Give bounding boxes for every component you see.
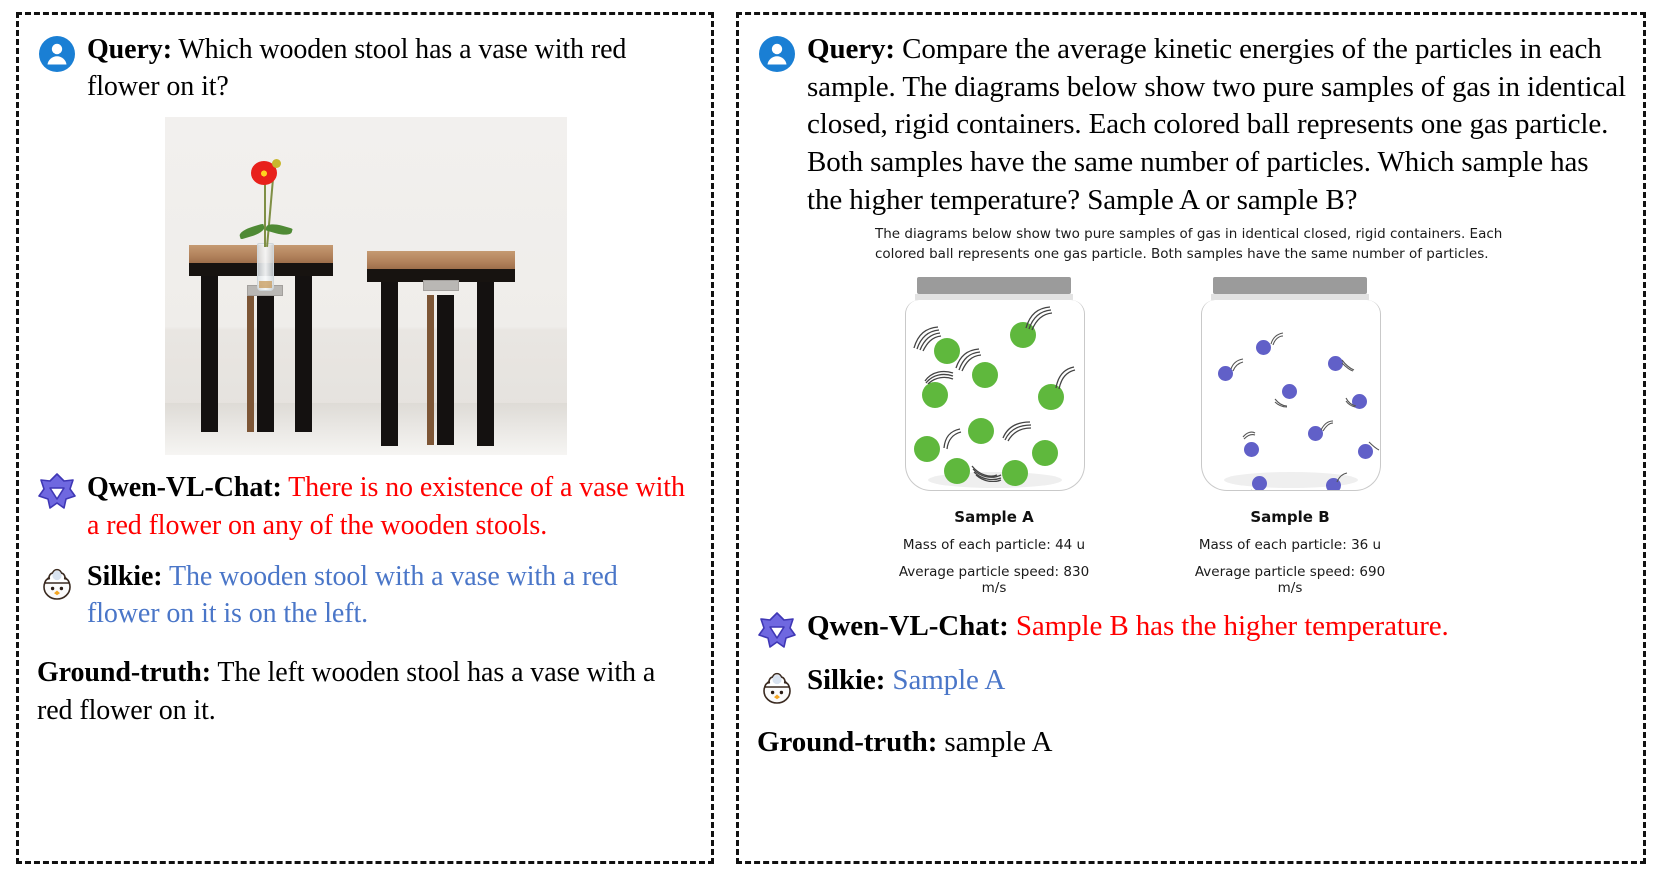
silkie-row-right: Silkie: Sample A <box>757 662 1627 702</box>
sample-a-name: Sample A <box>889 508 1099 526</box>
stool-right-leg-3 <box>427 295 434 445</box>
silkie-chicken-icon <box>37 561 83 601</box>
motion-trail <box>1054 366 1076 390</box>
stool-right-leg-1 <box>381 282 398 446</box>
gas-particle <box>944 458 970 484</box>
example-panel-right: Query: Compare the average kinetic energ… <box>736 12 1646 864</box>
qwen-text-left: Qwen-VL-Chat: There is no existence of a… <box>87 469 689 543</box>
ground-truth-row-right: Ground-truth: sample A <box>757 724 1627 764</box>
motion-trail <box>924 368 954 384</box>
qwen-row-left: Qwen-VL-Chat: There is no existence of a… <box>37 469 689 543</box>
flower-stem-1 <box>264 175 266 247</box>
stool-left-leg-2 <box>295 276 312 432</box>
flower-leaf-left <box>238 224 265 240</box>
query-row-right: Query: Compare the average kinetic energ… <box>757 31 1627 219</box>
ground-truth-text-right: Ground-truth: sample A <box>757 724 1627 762</box>
user-avatar-icon <box>757 34 803 74</box>
silkie-text-left: Silkie: The wooden stool with a vase wit… <box>87 558 689 632</box>
query-text-left: Query: Which wooden stool has a vase wit… <box>87 31 689 105</box>
qwen-answer-right: Sample B has the higher temperature. <box>1009 610 1449 642</box>
sample-a-column: Sample A Mass of each particle: 44 u Ave… <box>889 277 1099 596</box>
motion-trail <box>954 348 982 372</box>
sample-a-jar <box>905 277 1083 495</box>
motion-trail <box>942 428 962 450</box>
motion-trail <box>1368 440 1380 452</box>
motion-trail <box>1336 472 1348 484</box>
motion-trail <box>912 326 942 352</box>
sample-b-jar <box>1201 277 1379 495</box>
flower-leaf-right <box>265 222 292 238</box>
silkie-label-right: Silkie: <box>807 664 885 696</box>
ground-truth-label-right: Ground-truth: <box>757 726 937 758</box>
ground-truth-answer-right: sample A <box>937 726 1052 758</box>
ground-truth-label-left: Ground-truth: <box>37 657 211 688</box>
stool-left-leg-1 <box>201 276 218 432</box>
qwen-logo-icon <box>37 472 83 512</box>
gas-particle <box>968 418 994 444</box>
sample-a-lid <box>917 277 1071 294</box>
sample-b-body <box>1201 300 1381 491</box>
stool-photo <box>165 117 567 455</box>
ground-truth-text-left: Ground-truth: The left wooden stool has … <box>37 654 689 728</box>
motion-trail <box>1024 306 1054 332</box>
motion-trail <box>1002 420 1032 442</box>
motion-trail <box>970 462 998 484</box>
gas-particle <box>922 382 948 408</box>
flower-stem-2 <box>266 180 274 248</box>
qwen-row-right: Qwen-VL-Chat: Sample B has the higher te… <box>757 608 1627 648</box>
qwen-label-left: Qwen-VL-Chat: <box>87 472 282 503</box>
gas-particle <box>1032 440 1058 466</box>
qwen-logo-icon <box>757 611 803 651</box>
flower-bud <box>272 159 281 168</box>
sample-b-name: Sample B <box>1185 508 1395 526</box>
silkie-answer-right: Sample A <box>885 664 1005 696</box>
query-text-right: Query: Compare the average kinetic energ… <box>807 31 1627 219</box>
stool-right-leg-4 <box>437 295 454 445</box>
motion-trail <box>1341 358 1355 372</box>
sample-a-speed: Average particle speed: 830 m/s <box>889 564 1099 596</box>
qwen-text-right: Qwen-VL-Chat: Sample B has the higher te… <box>807 608 1627 646</box>
sample-a-mass: Mass of each particle: 44 u <box>889 537 1099 553</box>
silkie-answer-left: The wooden stool with a vase with a red … <box>87 561 618 629</box>
qwen-label-right: Qwen-VL-Chat: <box>807 610 1009 642</box>
silkie-text-right: Silkie: Sample A <box>807 662 1627 700</box>
sample-b-speed: Average particle speed: 690 m/s <box>1185 564 1395 596</box>
motion-trail <box>1270 332 1284 346</box>
jars-container: Sample A Mass of each particle: 44 u Ave… <box>875 277 1575 596</box>
sample-b-column: Sample B Mass of each particle: 36 u Ave… <box>1185 277 1395 596</box>
flower-vase <box>257 243 274 291</box>
gas-particle <box>914 436 940 462</box>
stool-right-plate <box>423 280 459 291</box>
stool-right-top <box>367 251 515 269</box>
silkie-label-left: Silkie: <box>87 561 163 592</box>
motion-trail <box>1230 358 1244 372</box>
gas-samples-diagram: The diagrams below show two pure samples… <box>875 225 1575 595</box>
motion-trail <box>1320 420 1334 432</box>
gas-particle <box>1002 460 1028 486</box>
motion-trail <box>1242 430 1256 440</box>
gas-particle <box>1256 340 1271 355</box>
query-content-right: Compare the average kinetic energies of … <box>807 33 1626 216</box>
motion-trail <box>1250 488 1264 491</box>
ground-truth-row-left: Ground-truth: The left wooden stool has … <box>37 654 689 728</box>
stool-left-leg-3 <box>247 290 254 432</box>
sample-b-mass: Mass of each particle: 36 u <box>1185 537 1395 553</box>
comparison-figure: Query: Which wooden stool has a vase wit… <box>0 0 1662 876</box>
stool-left-leg-4 <box>257 290 274 432</box>
sample-a-body <box>905 300 1085 491</box>
user-avatar-icon <box>37 34 83 74</box>
motion-trail <box>1274 396 1288 408</box>
query-label-right: Query: <box>807 33 895 65</box>
silkie-chicken-icon <box>757 665 803 705</box>
query-row-left: Query: Which wooden stool has a vase wit… <box>37 31 689 105</box>
silkie-row-left: Silkie: The wooden stool with a vase wit… <box>37 558 689 632</box>
stool-right-leg-2 <box>477 282 494 446</box>
motion-trail <box>1345 396 1357 408</box>
sample-b-lid <box>1213 277 1367 294</box>
query-label-left: Query: <box>87 34 172 65</box>
diagram-caption: The diagrams below show two pure samples… <box>875 225 1547 264</box>
example-panel-left: Query: Which wooden stool has a vase wit… <box>16 12 714 864</box>
gas-particle <box>1244 442 1259 457</box>
